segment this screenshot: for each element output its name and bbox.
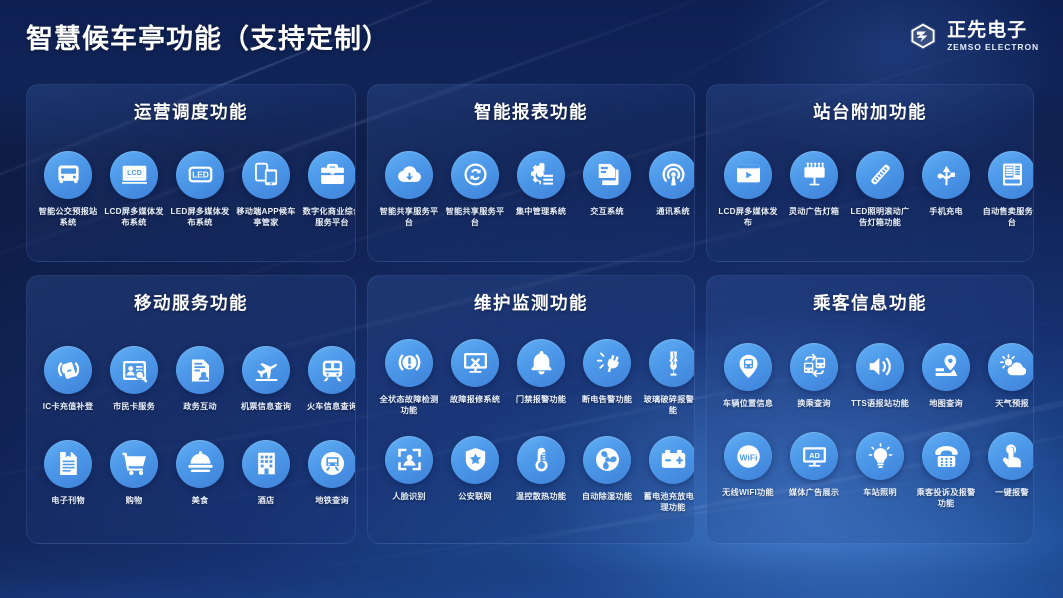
page-title: 智慧候车亭功能（支持定制） bbox=[26, 17, 390, 56]
nfc-card-icon[interactable] bbox=[44, 346, 92, 394]
panel-title: 乘客信息功能 bbox=[715, 290, 1025, 315]
feature-label: 数字化商业综合服务平台 bbox=[299, 206, 356, 228]
feature-tile[interactable]: 全状态故障检测功能 bbox=[376, 339, 442, 416]
feature-row: WiFi无线WIFI功能AD媒体广告展示车站照明乘客投诉及报警功能一键报警 bbox=[715, 432, 1025, 509]
brand-name-cn: 正先电子 bbox=[947, 21, 1039, 40]
feature-label: 移动端APP候车亭管家 bbox=[233, 206, 299, 228]
led-strip-icon[interactable] bbox=[856, 151, 904, 199]
weather-sun-cloud-icon[interactable] bbox=[988, 343, 1034, 391]
led-screen-icon[interactable]: LED bbox=[176, 151, 224, 199]
feature-label: 地铁查询 bbox=[299, 495, 356, 506]
feature-tile[interactable]: 政务互动 bbox=[167, 346, 233, 412]
feature-label: 智能公交预报站系统 bbox=[35, 206, 101, 228]
feature-tile[interactable]: 手机充电 bbox=[913, 151, 979, 217]
feature-tile[interactable]: 移动端APP候车亭管家 bbox=[233, 151, 299, 228]
panel-body: LCD屏多媒体发布灵动广告灯箱LED照明滚动广告灯箱功能手机充电自动售卖服务平台 bbox=[715, 128, 1025, 251]
feature-tile[interactable]: 数字化商业综合服务平台 bbox=[299, 151, 356, 228]
feature-label: 交互系统 bbox=[574, 206, 640, 217]
feature-label: 车辆位置信息 bbox=[715, 398, 781, 409]
feature-panel: 站台附加功能LCD屏多媒体发布灵动广告灯箱LED照明滚动广告灯箱功能手机充电自动… bbox=[706, 84, 1034, 262]
feature-tile[interactable]: 公安联网 bbox=[442, 436, 508, 502]
feature-tile[interactable]: 车辆位置信息 bbox=[715, 343, 781, 409]
feature-tile[interactable]: LCD屏多媒体发布 bbox=[715, 151, 781, 228]
background-bottom-fade bbox=[0, 540, 1063, 598]
feature-label: 乘客投诉及报警功能 bbox=[913, 487, 979, 509]
feature-row: 全状态故障检测功能故障报修系统门禁报警功能断电告警功能玻璃破碎报警功能视频监控功… bbox=[376, 339, 686, 416]
feature-label: 政务互动 bbox=[167, 401, 233, 412]
feature-tile[interactable]: 集中管理系统 bbox=[508, 151, 574, 217]
feature-label: 购物 bbox=[101, 495, 167, 506]
signal-tower-icon[interactable] bbox=[649, 151, 695, 199]
feature-label: 火车信息查询 bbox=[299, 401, 356, 412]
feature-label: 机票信息查询 bbox=[233, 401, 299, 412]
feature-label: LCD屏多媒体发布系统 bbox=[101, 206, 167, 228]
feature-row: 人脸识别公安联网温控散热功能自动除湿功能蓄电池充放电管理功能太阳能系统 bbox=[376, 436, 686, 513]
feature-panel: 乘客信息功能车辆位置信息换乘查询TTS语报站功能地图查询天气预报WiFi无线WI… bbox=[706, 275, 1034, 544]
brand-name-en: ZEMSO ELECTRON bbox=[947, 43, 1039, 52]
feature-tile[interactable]: 火车信息查询 bbox=[299, 346, 356, 412]
lightbulb-icon[interactable] bbox=[856, 432, 904, 480]
feature-tile[interactable]: IC卡充值补登 bbox=[35, 346, 101, 412]
feature-tile[interactable]: 地图查询 bbox=[913, 343, 979, 409]
feature-panel: 智能报表功能智能共享服务平台智能共享服务平台集中管理系统交互系统通讯系统 bbox=[367, 84, 695, 262]
feature-label: 美食 bbox=[167, 495, 233, 506]
feature-tile[interactable]: 电子刊物 bbox=[35, 440, 101, 506]
feature-tile[interactable]: 地铁查询 bbox=[299, 440, 356, 506]
feature-label: 自动除湿功能 bbox=[574, 491, 640, 502]
feature-label: TTS语报站功能 bbox=[847, 398, 913, 409]
documents-icon[interactable] bbox=[583, 151, 631, 199]
food-cloche-icon[interactable] bbox=[176, 440, 224, 488]
feature-label: 酒店 bbox=[233, 495, 299, 506]
feature-label: 智能共享服务平台 bbox=[376, 206, 442, 228]
hotel-building-icon[interactable] bbox=[242, 440, 290, 488]
government-doc-icon[interactable] bbox=[176, 346, 224, 394]
feature-label: 公安联网 bbox=[442, 491, 508, 502]
feature-tile[interactable]: 智能共享服务平台 bbox=[376, 151, 442, 228]
panel-body: IC卡充值补登市民卡服务政务互动机票信息查询火车信息查询电子刊物购物美食酒店地铁… bbox=[35, 319, 347, 533]
panel-title: 维护监测功能 bbox=[376, 290, 686, 315]
feature-tile[interactable]: 一键报警 bbox=[979, 432, 1034, 498]
wifi-icon[interactable]: WiFi bbox=[724, 432, 772, 480]
feature-tile[interactable]: 故障报修系统 bbox=[442, 339, 508, 405]
svg-text:LCD: LCD bbox=[127, 168, 142, 177]
feature-label: 断电告警功能 bbox=[574, 394, 640, 405]
feature-row: IC卡充值补登市民卡服务政务互动机票信息查询火车信息查询 bbox=[35, 346, 347, 412]
feature-tile[interactable]: 乘客投诉及报警功能 bbox=[913, 432, 979, 509]
feature-tile[interactable]: 灵动广告灯箱 bbox=[781, 151, 847, 217]
feature-panel-grid: 运营调度功能智能公交预报站系统LCDLCDLCD屏多媒体发布系统LEDLED屏多… bbox=[26, 84, 1034, 544]
power-plug-alert-icon[interactable] bbox=[583, 339, 631, 387]
page-header: 智慧候车亭功能（支持定制） 正先电子 ZEMSO ELECTRON bbox=[0, 0, 1063, 72]
feature-label: 市民卡服务 bbox=[101, 401, 167, 412]
feature-label: 一键报警 bbox=[979, 487, 1034, 498]
feature-label: 蓄电池充放电管理功能 bbox=[640, 491, 695, 513]
bus-location-pin-icon[interactable] bbox=[724, 343, 772, 391]
panel-title: 移动服务功能 bbox=[35, 290, 347, 315]
feature-label: 地图查询 bbox=[913, 398, 979, 409]
feature-row: LCD屏多媒体发布灵动广告灯箱LED照明滚动广告灯箱功能手机充电自动售卖服务平台 bbox=[715, 151, 1025, 228]
zemso-hexagon-arrow-icon bbox=[908, 21, 938, 51]
gear-list-icon[interactable] bbox=[517, 151, 565, 199]
cloud-download-icon[interactable] bbox=[385, 151, 433, 199]
ebook-icon[interactable] bbox=[44, 440, 92, 488]
feature-row: 智能公交预报站系统LCDLCDLCD屏多媒体发布系统LEDLED屏多媒体发布系统… bbox=[35, 151, 347, 228]
svg-text:LED: LED bbox=[192, 170, 209, 180]
panel-title: 运营调度功能 bbox=[35, 99, 347, 124]
panel-body: 智能公交预报站系统LCDLCDLCD屏多媒体发布系统LEDLED屏多媒体发布系统… bbox=[35, 128, 347, 251]
feature-tile[interactable]: 市民卡服务 bbox=[101, 346, 167, 412]
shopping-cart-icon[interactable] bbox=[110, 440, 158, 488]
feature-label: 媒体广告展示 bbox=[781, 487, 847, 498]
svg-text:AD: AD bbox=[809, 451, 820, 460]
feature-row: 电子刊物购物美食酒店地铁查询 bbox=[35, 440, 347, 506]
police-shield-icon[interactable] bbox=[451, 436, 499, 484]
feature-label: 无线WIFI功能 bbox=[715, 487, 781, 498]
feature-label: 玻璃破碎报警功能 bbox=[640, 394, 695, 416]
feature-label: 灵动广告灯箱 bbox=[781, 206, 847, 217]
thermometer-icon[interactable] bbox=[517, 436, 565, 484]
feature-tile[interactable]: WiFi无线WIFI功能 bbox=[715, 432, 781, 498]
panel-title: 站台附加功能 bbox=[715, 99, 1025, 124]
feature-tile[interactable]: 门禁报警功能 bbox=[508, 339, 574, 405]
svg-text:WiFi: WiFi bbox=[739, 452, 757, 462]
feature-label: LED照明滚动广告灯箱功能 bbox=[847, 206, 913, 228]
media-player-icon[interactable] bbox=[724, 151, 772, 199]
feature-tile[interactable]: 换乘查询 bbox=[781, 343, 847, 409]
feature-tile[interactable]: TTS语报站功能 bbox=[847, 343, 913, 409]
feature-panel: 维护监测功能全状态故障检测功能故障报修系统门禁报警功能断电告警功能玻璃破碎报警功… bbox=[367, 275, 695, 544]
ad-screen-icon[interactable]: AD bbox=[790, 432, 838, 480]
feature-label: LCD屏多媒体发布 bbox=[715, 206, 781, 228]
telephone-icon[interactable] bbox=[922, 432, 970, 480]
face-recognition-icon[interactable] bbox=[385, 436, 433, 484]
train-icon[interactable] bbox=[308, 346, 356, 394]
briefcase-icon[interactable] bbox=[308, 151, 356, 199]
feature-tile[interactable]: 购物 bbox=[101, 440, 167, 506]
feature-panel: 移动服务功能IC卡充值补登市民卡服务政务互动机票信息查询火车信息查询电子刊物购物… bbox=[26, 275, 356, 544]
screen-error-icon[interactable] bbox=[451, 339, 499, 387]
alert-exclamation-icon[interactable] bbox=[385, 339, 433, 387]
brand-logo: 正先电子 ZEMSO ELECTRON bbox=[908, 21, 1039, 52]
feature-panel: 运营调度功能智能公交预报站系统LCDLCDLCD屏多媒体发布系统LEDLED屏多… bbox=[26, 84, 356, 262]
feature-label: 车站照明 bbox=[847, 487, 913, 498]
feature-row: 车辆位置信息换乘查询TTS语报站功能地图查询天气预报 bbox=[715, 343, 1025, 409]
one-touch-alarm-icon[interactable] bbox=[988, 432, 1034, 480]
panel-body: 智能共享服务平台智能共享服务平台集中管理系统交互系统通讯系统 bbox=[376, 128, 686, 251]
metro-icon[interactable] bbox=[308, 440, 356, 488]
feature-tile[interactable]: 天气预报 bbox=[979, 343, 1034, 409]
lightbox-billboard-icon[interactable] bbox=[790, 151, 838, 199]
panel-title: 智能报表功能 bbox=[376, 99, 686, 124]
feature-label: IC卡充值补登 bbox=[35, 401, 101, 412]
feature-tile[interactable]: 车站照明 bbox=[847, 432, 913, 498]
speaker-icon[interactable] bbox=[856, 343, 904, 391]
feature-tile[interactable]: 酒店 bbox=[233, 440, 299, 506]
lcd-screen-icon[interactable]: LCDLCD bbox=[110, 151, 158, 199]
feature-label: 通讯系统 bbox=[640, 206, 695, 217]
map-pin-icon[interactable] bbox=[922, 343, 970, 391]
feature-tile[interactable]: 自动售卖服务平台 bbox=[979, 151, 1034, 228]
id-card-search-icon[interactable] bbox=[110, 346, 158, 394]
broken-glass-icon[interactable] bbox=[649, 339, 695, 387]
transfer-bus-icon[interactable] bbox=[790, 343, 838, 391]
bell-icon[interactable] bbox=[517, 339, 565, 387]
feature-tile[interactable]: 机票信息查询 bbox=[233, 346, 299, 412]
feature-label: 温控散热功能 bbox=[508, 491, 574, 502]
feature-tile[interactable]: 交互系统 bbox=[574, 151, 640, 217]
feature-tile[interactable]: LEDLED屏多媒体发布系统 bbox=[167, 151, 233, 228]
feature-label: 人脸识别 bbox=[376, 491, 442, 502]
feature-label: 手机充电 bbox=[913, 206, 979, 217]
usb-icon[interactable] bbox=[922, 151, 970, 199]
panel-body: 全状态故障检测功能故障报修系统门禁报警功能断电告警功能玻璃破碎报警功能视频监控功… bbox=[376, 319, 686, 533]
panel-body: 车辆位置信息换乘查询TTS语报站功能地图查询天气预报WiFi无线WIFI功能AD… bbox=[715, 319, 1025, 533]
feature-tile[interactable]: 玻璃破碎报警功能 bbox=[640, 339, 695, 416]
feature-tile[interactable]: LED照明滚动广告灯箱功能 bbox=[847, 151, 913, 228]
feature-tile[interactable]: LCDLCDLCD屏多媒体发布系统 bbox=[101, 151, 167, 228]
feature-tile[interactable]: 智能公交预报站系统 bbox=[35, 151, 101, 228]
feature-label: 电子刊物 bbox=[35, 495, 101, 506]
feature-tile[interactable]: 断电告警功能 bbox=[574, 339, 640, 405]
feature-label: 故障报修系统 bbox=[442, 394, 508, 405]
feature-tile[interactable]: 自动除湿功能 bbox=[574, 436, 640, 502]
feature-tile[interactable]: 通讯系统 bbox=[640, 151, 695, 217]
sync-refresh-icon[interactable] bbox=[451, 151, 499, 199]
feature-label: LED屏多媒体发布系统 bbox=[167, 206, 233, 228]
vending-machine-icon[interactable] bbox=[988, 151, 1034, 199]
feature-label: 集中管理系统 bbox=[508, 206, 574, 217]
fan-icon[interactable] bbox=[583, 436, 631, 484]
feature-label: 自动售卖服务平台 bbox=[979, 206, 1034, 228]
feature-tile[interactable]: 人脸识别 bbox=[376, 436, 442, 502]
feature-label: 智能共享服务平台 bbox=[442, 206, 508, 228]
airplane-icon[interactable] bbox=[242, 346, 290, 394]
feature-label: 天气预报 bbox=[979, 398, 1034, 409]
battery-icon[interactable] bbox=[649, 436, 695, 484]
feature-tile[interactable]: 智能共享服务平台 bbox=[442, 151, 508, 228]
feature-label: 全状态故障检测功能 bbox=[376, 394, 442, 416]
feature-tile[interactable]: 蓄电池充放电管理功能 bbox=[640, 436, 695, 513]
feature-tile[interactable]: AD媒体广告展示 bbox=[781, 432, 847, 498]
feature-tile[interactable]: 温控散热功能 bbox=[508, 436, 574, 502]
feature-row: 智能共享服务平台智能共享服务平台集中管理系统交互系统通讯系统 bbox=[376, 151, 686, 228]
feature-label: 门禁报警功能 bbox=[508, 394, 574, 405]
feature-tile[interactable]: 美食 bbox=[167, 440, 233, 506]
feature-label: 换乘查询 bbox=[781, 398, 847, 409]
bus-icon[interactable] bbox=[44, 151, 92, 199]
mobile-app-icon[interactable] bbox=[242, 151, 290, 199]
